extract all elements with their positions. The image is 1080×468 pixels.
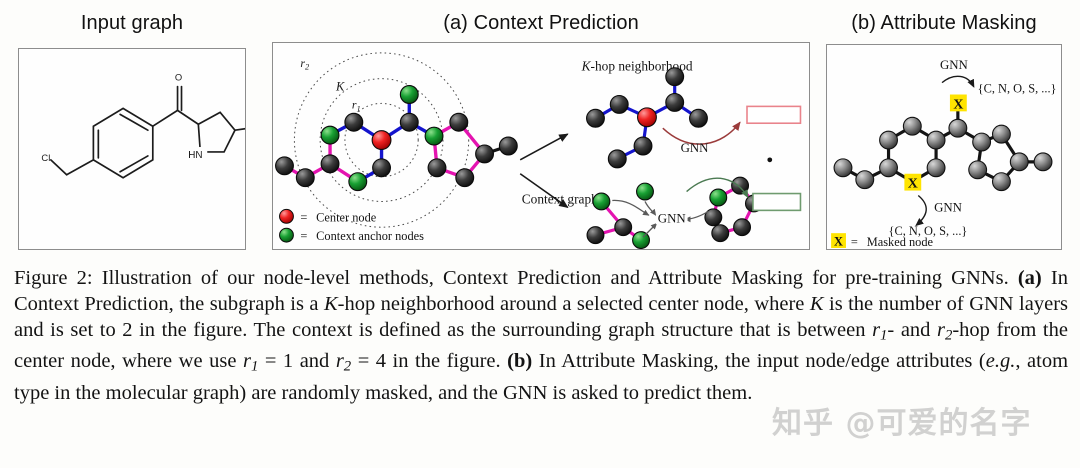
legend-label-masked-node: Masked node [867, 235, 934, 249]
caption-eq-r1: r [243, 350, 251, 372]
plain-node [712, 225, 729, 242]
context-graph-label: Context graph [522, 191, 598, 206]
anchor-node [349, 173, 367, 191]
gnn-arrow-top [942, 76, 974, 86]
caption-seg6: and [293, 350, 336, 372]
mask-glyph-bottom: X [908, 176, 918, 191]
plain-node [732, 177, 749, 194]
input-graph-panel: O Cl HN HN [18, 48, 246, 250]
caption-var-K2: K [810, 293, 824, 315]
plain-node [949, 119, 967, 137]
gnn-label-bottom: GNN [658, 211, 686, 225]
caption-seg2: -hop neighborhood around a selected cent… [338, 293, 810, 315]
agg-arrow-1 [612, 200, 649, 215]
center-node-marker [280, 209, 294, 223]
caption-bold-b: (b) [507, 350, 532, 372]
gnn-label-top: GNN [940, 58, 968, 72]
context-prediction-panel: r2 K r1 [272, 42, 810, 250]
r2-label: r2 [300, 56, 310, 72]
plain-node [373, 159, 391, 177]
plain-node [834, 159, 852, 177]
plain-node [856, 171, 874, 189]
attribute-masking-panel: GNN {C, N, O, S, ...} [826, 44, 1062, 250]
caption-seg8: In Attribute Masking, the input node/edg… [532, 350, 986, 372]
plain-node [734, 219, 751, 236]
plain-node [666, 94, 684, 112]
caption-italic-eg: e.g. [986, 350, 1016, 372]
caption-var-K1: K [324, 293, 338, 315]
plain-node [993, 173, 1011, 191]
caption-eq-r2: r [336, 350, 344, 372]
caption-eq-r1-val: = 1 [258, 350, 293, 372]
attribute-masking-diagram: GNN {C, N, O, S, ...} [827, 45, 1061, 249]
anchor-node [425, 127, 443, 145]
r1-label: r1 [352, 97, 361, 113]
plain-node [587, 109, 605, 127]
context-prediction-title: (a) Context Prediction [272, 12, 810, 35]
arrow-to-khop [520, 134, 568, 160]
chlorine-label: Cl [41, 152, 50, 163]
plain-node [690, 109, 708, 127]
plain-node [345, 113, 363, 131]
agg-arrow-3 [643, 223, 657, 237]
plain-node [880, 131, 898, 149]
oxygen-label: O [175, 72, 182, 83]
caption-var-r1a: r [872, 319, 880, 341]
center-node [638, 108, 657, 127]
mask-glyph-legend: X [834, 235, 843, 249]
caption-prefix: Figure 2: Illustration of our node-level… [14, 267, 1018, 289]
plain-node [1010, 153, 1028, 171]
caption-var-r2a: r [937, 319, 945, 341]
caption-seg4: - and [887, 319, 937, 341]
plain-node [610, 95, 628, 113]
plain-node [1034, 153, 1052, 171]
anchor-node [400, 86, 418, 104]
attribute-masking-legend: X = Masked node [831, 233, 933, 249]
figure-2: Input graph (a) Context Prediction (b) A… [0, 0, 1080, 468]
caption-bold-a: (a) [1018, 267, 1042, 289]
svg-text:HN: HN [188, 150, 202, 161]
context-anchor-node-marker [280, 228, 294, 242]
input-graph-title: Input graph [18, 12, 246, 35]
anchor-node [633, 232, 650, 249]
plain-node [321, 155, 339, 173]
anchor-node [637, 183, 654, 200]
K-label: K [335, 80, 345, 94]
center-embedding-box [747, 106, 800, 123]
anchor-node [321, 126, 339, 144]
legend-label-context-anchor-nodes: Context anchor nodes [316, 229, 424, 243]
input-molecule-diagram: O Cl HN HN [19, 49, 245, 249]
context-prediction-diagram: r2 K r1 [273, 43, 809, 249]
plain-node [634, 137, 652, 155]
legend-eq-2: = [300, 229, 307, 243]
plain-node [456, 169, 474, 187]
caption-eq-r2-val: = 4 [351, 350, 386, 372]
plain-node [296, 169, 314, 187]
legend-eq-1: = [300, 210, 307, 224]
legend-eq-mask: = [851, 235, 858, 249]
plain-node [973, 133, 991, 151]
gnn-label-bottom: GNN [934, 200, 962, 214]
dot-product-symbol [767, 157, 772, 162]
plain-node [428, 159, 446, 177]
plain-node [666, 68, 684, 86]
attribute-masking-title: (b) Attribute Masking [818, 12, 1070, 35]
plain-node [476, 145, 494, 163]
center-node [372, 131, 391, 150]
plain-node [927, 159, 945, 177]
plain-node [903, 117, 921, 135]
caption-seg7: in the figure. [386, 350, 507, 372]
legend-label-center-node: Center node [316, 210, 377, 224]
mask-glyph-top: X [953, 96, 963, 111]
plain-node [993, 125, 1011, 143]
context-prediction-legend: = Center node = Context anchor nodes [280, 209, 425, 243]
plain-node [450, 113, 468, 131]
atom-set-top: {C, N, O, S, ...} [978, 82, 1057, 96]
plain-node [880, 159, 898, 177]
plain-node [615, 219, 632, 236]
gnn-arrow-bottom [916, 196, 926, 226]
graph-nodes [276, 86, 518, 191]
context-embedding-box [753, 194, 801, 211]
figure-caption: Figure 2: Illustration of our node-level… [14, 266, 1068, 406]
plain-node [276, 157, 294, 175]
plain-node [499, 137, 517, 155]
plain-node [969, 161, 987, 179]
plain-node [608, 150, 626, 168]
anchor-node [593, 193, 610, 210]
plain-node [400, 113, 418, 131]
anchor-node [710, 189, 727, 206]
gnn-label-top: GNN [681, 141, 709, 155]
plain-node [927, 131, 945, 149]
plain-node [587, 227, 604, 244]
